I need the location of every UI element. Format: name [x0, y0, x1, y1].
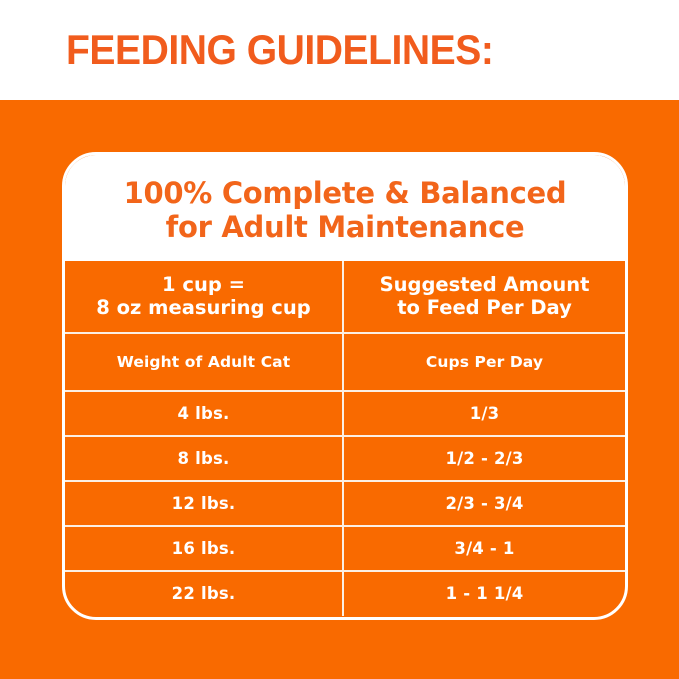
feeding-card: 100% Complete & Balanced for Adult Maint… — [62, 152, 628, 620]
cup-definition-line-1: 1 cup = — [69, 273, 338, 297]
feeding-table: 1 cup = 8 oz measuring cup Suggested Amo… — [65, 261, 625, 616]
suggested-amount-line-1: Suggested Amount — [348, 273, 621, 297]
cell-cups: 2/3 - 3/4 — [343, 481, 625, 526]
feeding-guidelines-page: FEEDING GUIDELINES: 100% Complete & Bala… — [0, 0, 679, 679]
cell-cups: 3/4 - 1 — [343, 526, 625, 571]
cell-weight: 22 lbs. — [65, 571, 343, 616]
table-row: 16 lbs. 3/4 - 1 — [65, 526, 625, 571]
cell-cups: 1 - 1 1/4 — [343, 571, 625, 616]
suggested-amount-line-2: to Feed Per Day — [348, 296, 621, 320]
cell-weight: 16 lbs. — [65, 526, 343, 571]
table-row: 4 lbs. 1/3 — [65, 391, 625, 436]
page-title: FEEDING GUIDELINES: — [66, 29, 493, 71]
table-row: 12 lbs. 2/3 - 3/4 — [65, 481, 625, 526]
card-heading-line-1: 100% Complete & Balanced — [75, 177, 615, 211]
cup-definition-line-2: 8 oz measuring cup — [69, 296, 338, 320]
cup-definition-cell: 1 cup = 8 oz measuring cup — [65, 261, 343, 333]
cell-cups: 1/2 - 2/3 — [343, 436, 625, 481]
cell-weight: 12 lbs. — [65, 481, 343, 526]
column-header-cups: Cups Per Day — [343, 333, 625, 391]
cell-cups: 1/3 — [343, 391, 625, 436]
card-heading-line-2: for Adult Maintenance — [75, 211, 615, 245]
table-row: 8 lbs. 1/2 - 2/3 — [65, 436, 625, 481]
table-note-row: 1 cup = 8 oz measuring cup Suggested Amo… — [65, 261, 625, 333]
table-row: 22 lbs. 1 - 1 1/4 — [65, 571, 625, 616]
suggested-amount-cell: Suggested Amount to Feed Per Day — [343, 261, 625, 333]
cell-weight: 8 lbs. — [65, 436, 343, 481]
table-header-row: Weight of Adult Cat Cups Per Day — [65, 333, 625, 391]
card-heading: 100% Complete & Balanced for Adult Maint… — [65, 155, 625, 261]
column-header-weight: Weight of Adult Cat — [65, 333, 343, 391]
title-band: FEEDING GUIDELINES: — [0, 0, 679, 100]
cell-weight: 4 lbs. — [65, 391, 343, 436]
